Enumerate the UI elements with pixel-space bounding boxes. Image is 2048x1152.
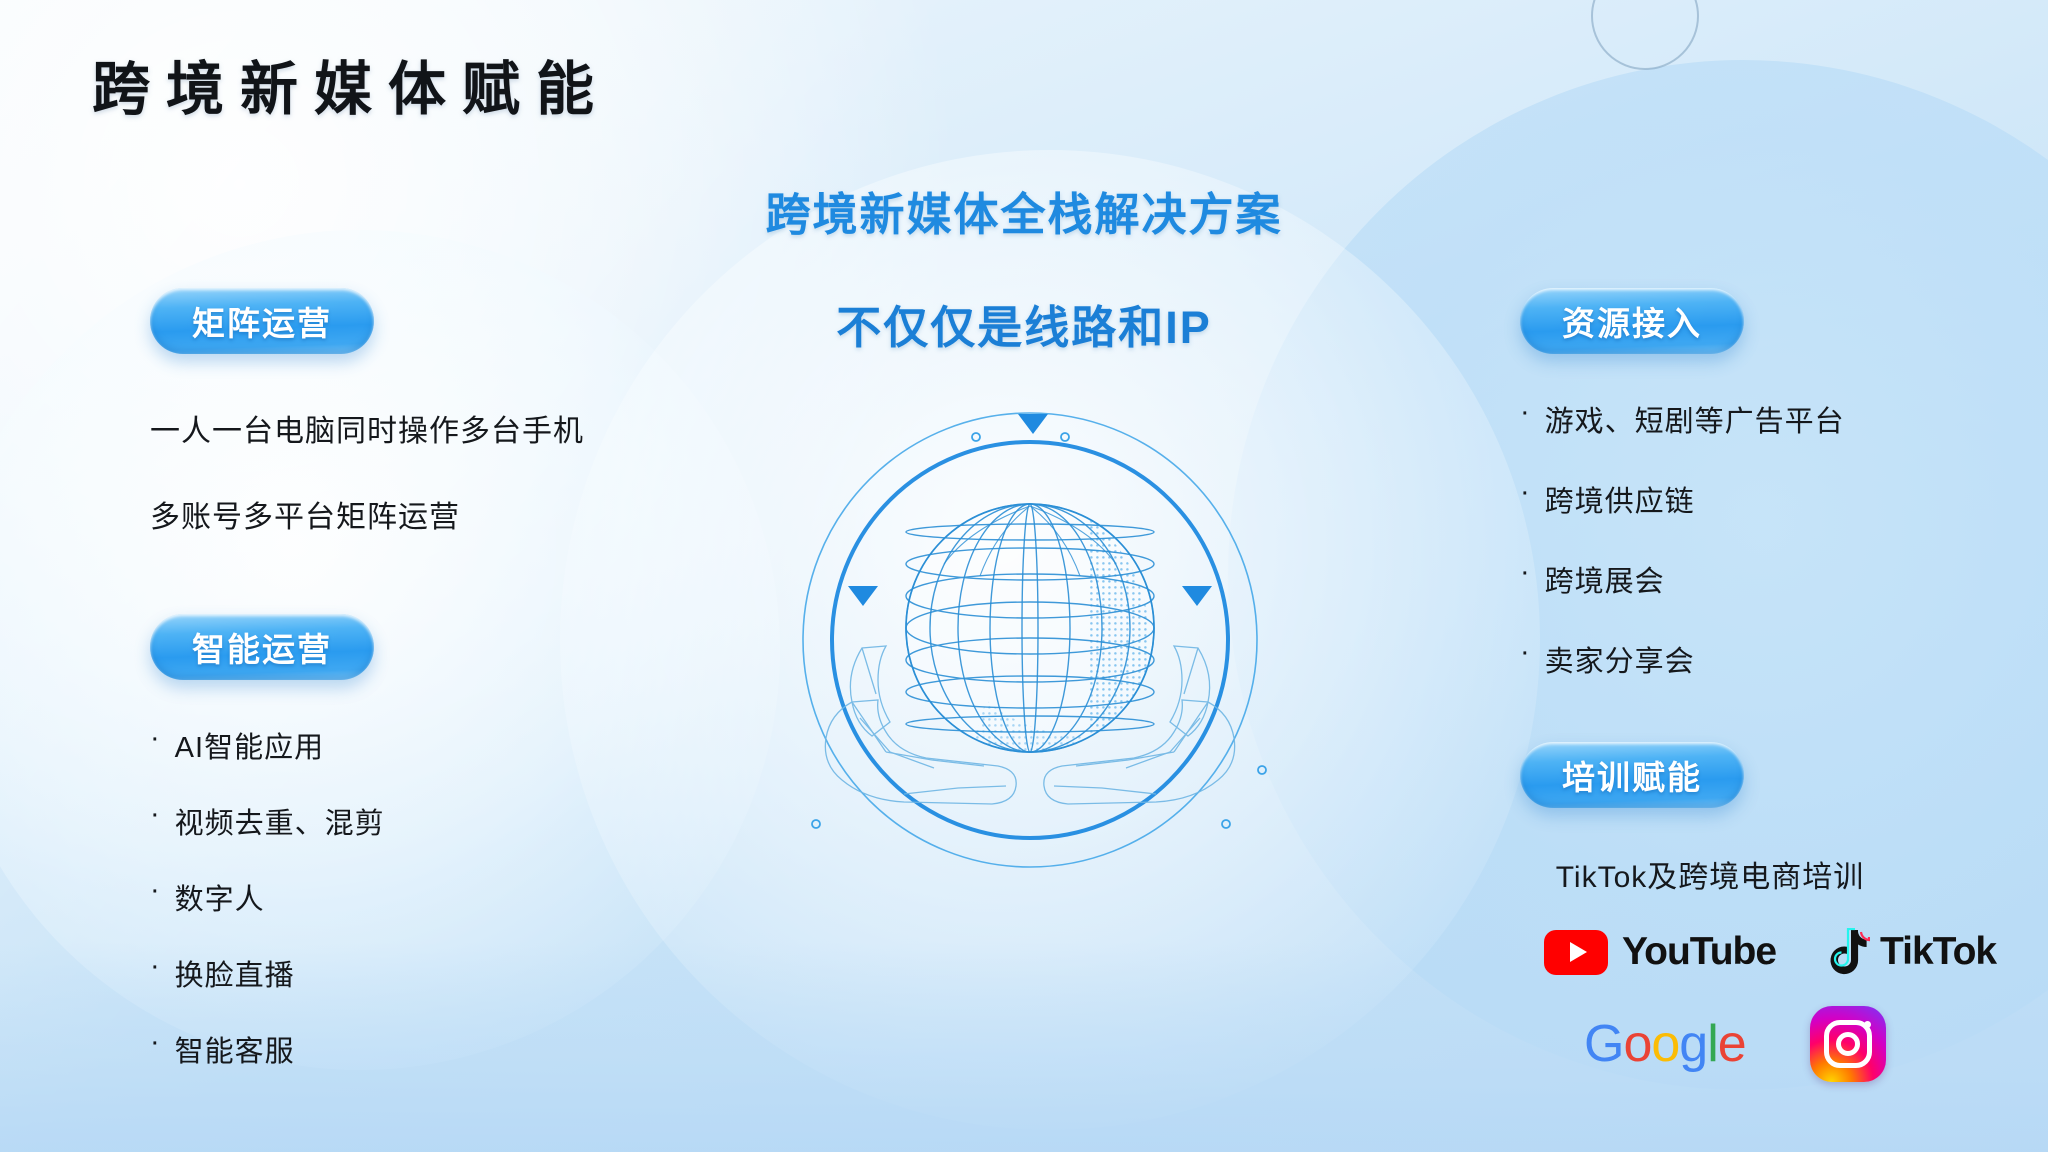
bullet-mark-icon: · xyxy=(1520,398,1531,427)
bullet-mark-icon: · xyxy=(150,724,161,753)
slide-canvas: 跨境新媒体赋能 跨境新媒体全栈解决方案 不仅仅是线路和IP xyxy=(0,0,2048,1152)
bullet-mark-icon: · xyxy=(150,1028,161,1057)
list-item: · 卖家分享会 xyxy=(1520,638,2040,680)
list-item-label: 数字人 xyxy=(175,876,265,918)
list-item: · AI智能应用 xyxy=(150,724,770,766)
list-item: · 跨境供应链 xyxy=(1520,478,2040,520)
pill-training-empowerment-label: 培训赋能 xyxy=(1520,742,1744,808)
decorative-ring-icon xyxy=(1591,0,1699,70)
page-title: 跨境新媒体赋能 xyxy=(92,42,610,126)
pill-resource-access-label: 资源接入 xyxy=(1520,288,1744,354)
right-bullet-list: · 游戏、短剧等广告平台 · 跨境供应链 · 跨境展会 · 卖家分享会 xyxy=(1520,398,2040,680)
google-logo[interactable]: Google xyxy=(1584,1018,1746,1070)
pill-matrix-operations-label: 矩阵运营 xyxy=(150,288,374,354)
list-item: · 换脸直播 xyxy=(150,952,770,994)
youtube-logo-label: YouTube xyxy=(1622,930,1776,974)
list-item-label: 视频去重、混剪 xyxy=(175,800,385,842)
right-column: 资源接入 · 游戏、短剧等广告平台 · 跨境供应链 · 跨境展会 · 卖家分享会… xyxy=(1520,288,2040,1082)
training-description: TikTok及跨境电商培训 xyxy=(1500,852,1920,896)
instagram-flash-dot-icon xyxy=(1864,1021,1871,1028)
instagram-lens-icon xyxy=(1836,1032,1860,1056)
pill-training-empowerment[interactable]: 培训赋能 xyxy=(1520,742,2040,808)
list-item-label: 跨境供应链 xyxy=(1545,478,1695,520)
globe-in-hands-illustration xyxy=(790,400,1270,880)
instagram-logo[interactable] xyxy=(1810,1006,1886,1082)
tiktok-logo[interactable]: TikTok xyxy=(1828,928,1996,976)
bullet-mark-icon: · xyxy=(150,952,161,981)
logo-row-secondary: Google xyxy=(1584,1006,2040,1082)
pill-resource-access[interactable]: 资源接入 xyxy=(1520,288,2040,354)
bullet-mark-icon: · xyxy=(150,876,161,905)
bullet-mark-icon: · xyxy=(1520,478,1531,507)
pill-smart-operations[interactable]: 智能运营 xyxy=(150,614,770,680)
list-item-label: 卖家分享会 xyxy=(1545,638,1695,680)
list-item: · 智能客服 xyxy=(150,1028,770,1070)
youtube-logo[interactable]: YouTube xyxy=(1544,930,1776,975)
center-heading-primary: 跨境新媒体全栈解决方案 xyxy=(524,178,1524,243)
bullet-mark-icon: · xyxy=(1520,558,1531,587)
list-item: · 游戏、短剧等广告平台 xyxy=(1520,398,2040,440)
list-item-label: 游戏、短剧等广告平台 xyxy=(1545,398,1845,440)
list-item-label: 换脸直播 xyxy=(175,952,295,994)
bullet-mark-icon: · xyxy=(1520,638,1531,667)
pill-matrix-operations[interactable]: 矩阵运营 xyxy=(150,288,770,354)
list-item-label: AI智能应用 xyxy=(175,724,324,766)
left-section1-line-1: 多账号多平台矩阵运营 xyxy=(150,492,770,536)
list-item: · 跨境展会 xyxy=(1520,558,2040,600)
left-section1-line-0: 一人一台电脑同时操作多台手机 xyxy=(150,406,770,450)
list-item-label: 智能客服 xyxy=(175,1028,295,1070)
list-item: · 数字人 xyxy=(150,876,770,918)
left-column: 矩阵运营 一人一台电脑同时操作多台手机 多账号多平台矩阵运营 智能运营 · AI… xyxy=(150,288,770,1070)
youtube-play-icon xyxy=(1544,930,1608,975)
left-bullet-list: · AI智能应用 · 视频去重、混剪 · 数字人 · 换脸直播 · 智能客服 xyxy=(150,724,770,1070)
tiktok-logo-label: TikTok xyxy=(1880,930,1996,974)
pill-smart-operations-label: 智能运营 xyxy=(150,614,374,680)
list-item: · 视频去重、混剪 xyxy=(150,800,770,842)
tiktok-note-icon xyxy=(1828,928,1870,976)
logo-row-primary: YouTube TikTok xyxy=(1544,928,2040,976)
list-item-label: 跨境展会 xyxy=(1545,558,1665,600)
bullet-mark-icon: · xyxy=(150,800,161,829)
